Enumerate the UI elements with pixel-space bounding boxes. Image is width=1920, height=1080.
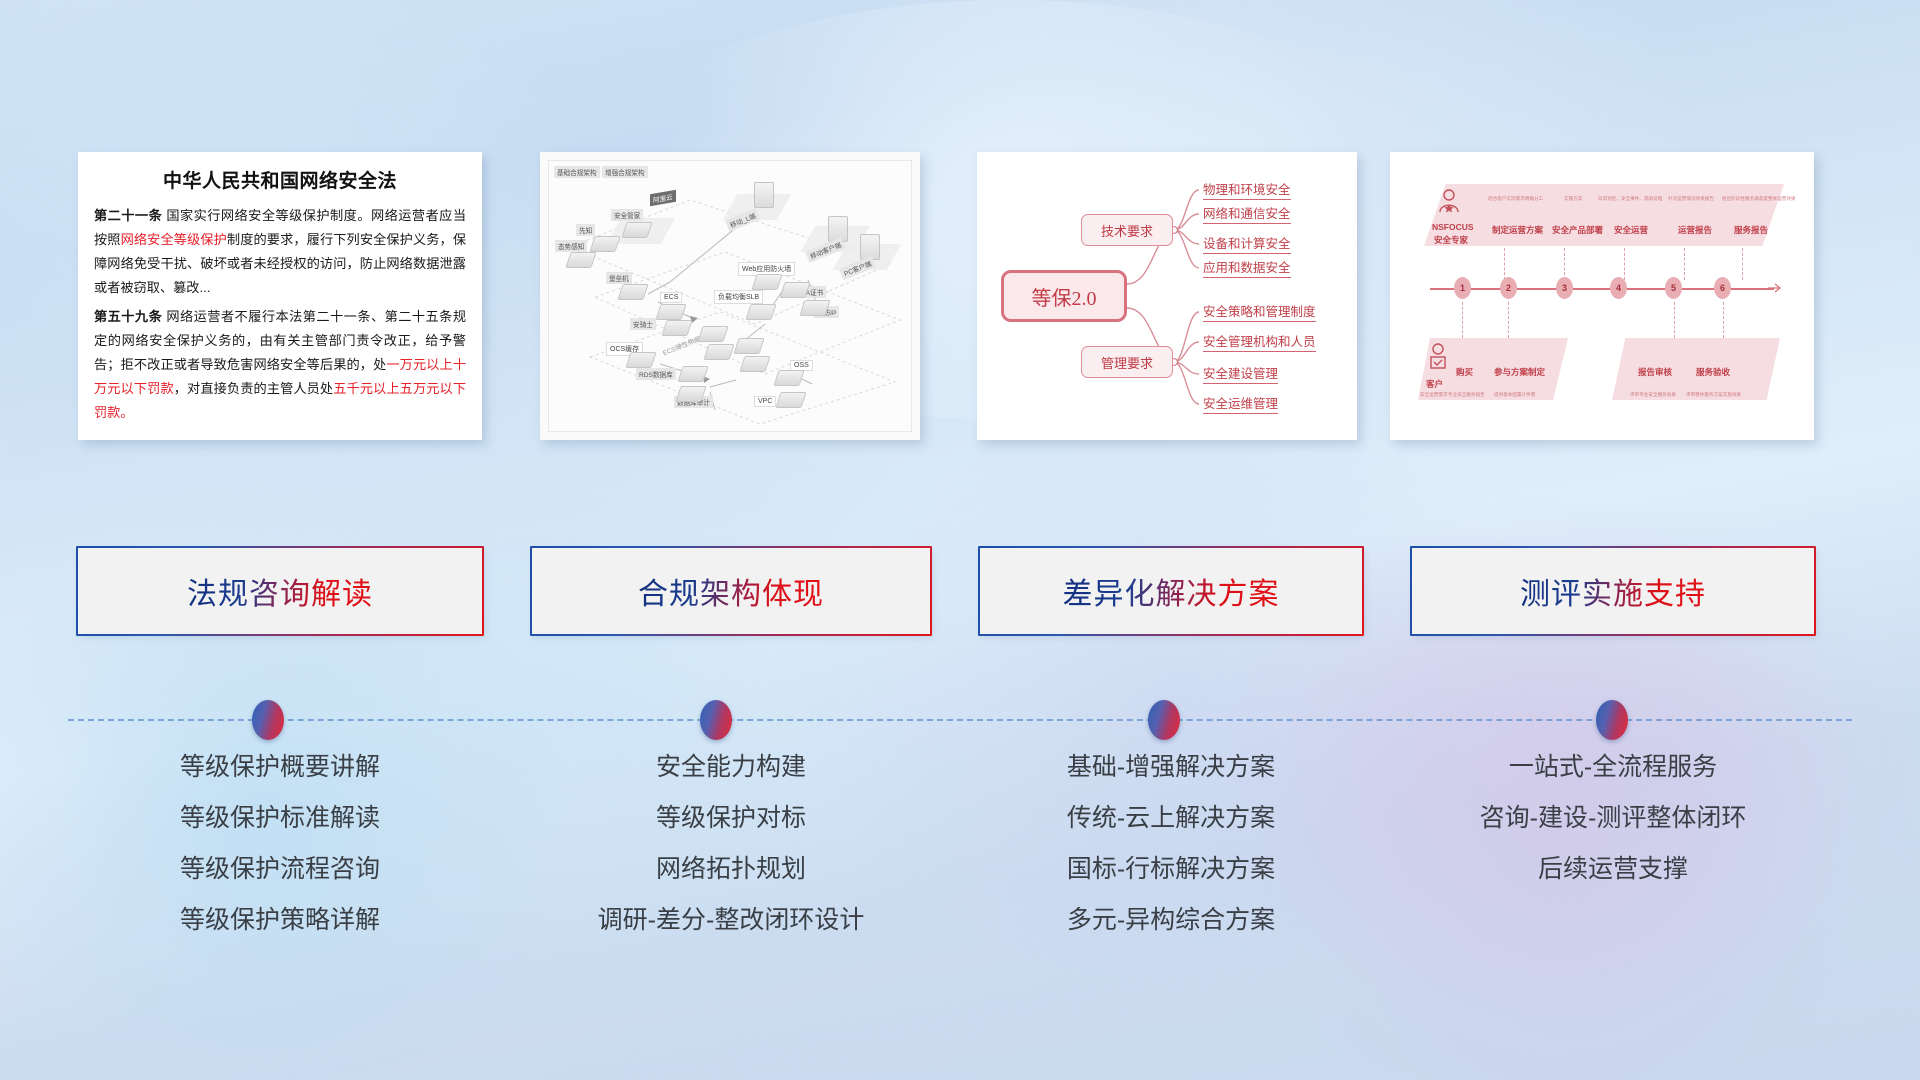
mindmap-branch-technical: 技术要求 — [1081, 214, 1173, 246]
list-item: 等级保护对标 — [532, 793, 930, 844]
law-body: 中华人民共和国网络安全法 第二十一条 国家实行网络安全等级保护制度。网络运营者应… — [78, 152, 482, 440]
law-p1-s1-highlight: 网络安全等级保护 — [121, 232, 227, 247]
heading-label-0: 法规咨询解读 — [187, 569, 373, 613]
timeline-node-3[interactable]: 3 — [1556, 277, 1573, 299]
heading-box-assessment-support[interactable]: 测评实施支持 — [1412, 548, 1814, 634]
list-item: 国标-行标解决方案 — [980, 844, 1362, 895]
mindmap-leaf-mgmt-3: 安全建设管理 — [1203, 363, 1278, 384]
detail-column-4: 一站式-全流程服务 咨询-建设-测评整体闭环 后续运营支撑 — [1412, 742, 1814, 895]
customer-step-4-sub: 评审整体服务方案实施效果 — [1686, 392, 1741, 398]
heading-box-regulation-consulting[interactable]: 法规咨询解读 — [78, 548, 482, 634]
expert-step-1-title: 制定运营方案 — [1492, 224, 1543, 236]
heading-label-1: 合规架构体现 — [638, 569, 824, 613]
detail-column-2: 安全能力构建 等级保护对标 网络拓扑规划 调研-差分-整改闭环设计 — [532, 742, 930, 946]
card-nsfocus-process[interactable]: NSFOCUS 安全专家 结合客户实际需求明确分工 制定运营方案 实施方案 安全… — [1390, 152, 1814, 440]
nsfocus-brand: NSFOCUS — [1432, 222, 1474, 232]
nsfocus-canvas: NSFOCUS 安全专家 结合客户实际需求明确分工 制定运营方案 实施方案 安全… — [1390, 152, 1814, 440]
list-item: 基础-增强解决方案 — [980, 742, 1362, 793]
heading-label-3: 测评实施支持 — [1520, 569, 1706, 613]
card-law-document[interactable]: 中华人民共和国网络安全法 第二十一条 国家实行网络安全等级保护制度。网络运营者应… — [78, 152, 482, 440]
nsfocus-expert-banner — [1424, 184, 1784, 246]
law-paragraph-1: 第二十一条 国家实行网络安全等级保护制度。网络运营者应当按照网络安全等级保护制度… — [94, 204, 466, 300]
timeline-node-2[interactable]: 2 — [1500, 277, 1517, 299]
customer-label: 客户 — [1426, 378, 1443, 390]
law-article-2: 第五十九条 — [94, 309, 162, 324]
law-p2-s2: ，对直接负责的主管人员处 — [174, 381, 333, 396]
list-item: 安全能力构建 — [532, 742, 930, 793]
arch-tab-basic[interactable]: 基础合规架构 — [554, 166, 600, 178]
timeline-dashed-rule — [68, 719, 1852, 721]
heading-box-compliance-architecture[interactable]: 合规架构体现 — [532, 548, 930, 634]
customer-step-1-sub: 专业安全服务报告 — [1448, 392, 1485, 398]
detail-columns: 等级保护概要讲解 等级保护标准解读 等级保护流程咨询 等级保护策略详解 安全能力… — [0, 742, 1920, 1042]
customer-step-2-title: 参与方案制定 — [1494, 366, 1545, 378]
timeline-arrow-icon — [1768, 281, 1784, 295]
list-item: 等级保护流程咨询 — [78, 844, 482, 895]
expert-step-4-title: 运营报告 — [1678, 224, 1712, 236]
mindmap-leaf-mgmt-1: 安全策略和管理制度 — [1203, 301, 1316, 322]
mindmap-leaf-tech-2: 网络和通信安全 — [1203, 203, 1291, 224]
list-item: 等级保护概要讲解 — [78, 742, 482, 793]
arch-node-shishiganzhi: 态势感知 — [555, 240, 587, 252]
customer-person-icon — [1426, 342, 1450, 372]
expert-step-3-title: 安全运营 — [1614, 224, 1648, 236]
timeline-marker-3[interactable] — [1148, 700, 1180, 740]
expert-step-3-sub: 日常巡检、安全事件、漏洞处理 — [1598, 196, 1662, 202]
arch-node-vpc: VPC — [754, 396, 776, 407]
detail-column-3: 基础-增强解决方案 传统-云上解决方案 国标-行标解决方案 多元-异构综合方案 — [980, 742, 1362, 946]
list-item: 传统-云上解决方案 — [980, 793, 1362, 844]
arch-node-anqishi: 安骑士 — [630, 318, 656, 330]
expert-person-icon — [1436, 188, 1462, 218]
law-paragraph-2: 第五十九条 网络运营者不履行本法第二十一条、第二十五条规定的网络安全保护义务的，… — [94, 305, 466, 425]
list-item: 后续运营支撑 — [1412, 844, 1814, 895]
arch-node-ecs: ECS — [660, 292, 682, 303]
list-item: 咨询-建设-测评整体闭环 — [1412, 793, 1814, 844]
expert-step-2-sub: 实施方案 — [1564, 196, 1582, 202]
law-title: 中华人民共和国网络安全法 — [94, 166, 466, 193]
timeline-marker-4[interactable] — [1596, 700, 1628, 740]
mindmap-leaf-tech-1: 物理和环境安全 — [1203, 179, 1291, 200]
arch-node-anquanguanjia: 安全管家 — [611, 209, 643, 221]
customer-sub: 安全运营需求 — [1420, 392, 1448, 398]
mindmap-leaf-tech-4: 应用和数据安全 — [1203, 257, 1291, 278]
timeline-node-4[interactable]: 4 — [1610, 277, 1627, 299]
arch-node-rds: RDS数据库 — [636, 368, 676, 380]
list-item: 等级保护策略详解 — [78, 895, 482, 946]
process-timeline — [0, 700, 1920, 740]
card-mindmap[interactable]: 等保2.0 技术要求 物理和环境安全 网络和通信安全 设备和计算安全 应用和数据… — [977, 152, 1357, 440]
heading-label-2: 差异化解决方案 — [1063, 569, 1280, 613]
heading-row: 法规咨询解读 合规架构体现 差异化解决方案 测评实施支持 — [0, 548, 1920, 648]
mindmap-leaf-tech-3: 设备和计算安全 — [1203, 233, 1291, 254]
list-item: 等级保护标准解读 — [78, 793, 482, 844]
mindmap-leaf-mgmt-4: 安全运维管理 — [1203, 393, 1278, 414]
expert-step-5-sub: 给出阶段性服务满意度整体运营效果 — [1722, 196, 1796, 202]
list-item: 一站式-全流程服务 — [1412, 742, 1814, 793]
timeline-marker-1[interactable] — [252, 700, 284, 740]
law-article-1: 第二十一条 — [94, 208, 162, 223]
timeline-node-6[interactable]: 6 — [1714, 277, 1731, 299]
timeline-node-1[interactable]: 1 — [1454, 277, 1471, 299]
card-architecture-diagram[interactable]: 基础合规架构 增强合规架构 阿里云 安全管家 先知 态势感知 堡垒机 ECS 安… — [540, 152, 920, 440]
arch-node-slb: 负载均衡SLB — [714, 290, 763, 304]
mindmap-branch-management: 管理要求 — [1081, 346, 1173, 378]
heading-box-differentiated-solution[interactable]: 差异化解决方案 — [980, 548, 1362, 634]
arch-tab-enhanced[interactable]: 增强合规架构 — [602, 166, 648, 178]
expert-step-1-sub: 结合客户实际需求明确分工 — [1488, 196, 1543, 202]
list-item: 调研-差分-整改闭环设计 — [532, 895, 930, 946]
arch-node-baoleiji: 堡垒机 — [606, 272, 632, 284]
mindmap-leaf-mgmt-2: 安全管理机构和人员 — [1203, 331, 1316, 352]
mindmap-canvas: 等保2.0 技术要求 物理和环境安全 网络和通信安全 设备和计算安全 应用和数据… — [977, 152, 1357, 440]
thumbnail-cards-row: 中华人民共和国网络安全法 第二十一条 国家实行网络安全等级保护制度。网络运营者应… — [0, 152, 1920, 452]
detail-column-1: 等级保护概要讲解 等级保护标准解读 等级保护流程咨询 等级保护策略详解 — [78, 742, 482, 946]
expert-step-4-sub: 针对运营情况效果报告 — [1668, 196, 1714, 202]
nsfocus-brand-sub: 安全专家 — [1434, 234, 1468, 246]
timeline-node-5[interactable]: 5 — [1665, 277, 1682, 299]
expert-step-2-title: 安全产品部署 — [1552, 224, 1603, 236]
expert-step-5-title: 服务报告 — [1734, 224, 1768, 236]
architecture-canvas: 基础合规架构 增强合规架构 阿里云 安全管家 先知 态势感知 堡垒机 ECS 安… — [540, 152, 920, 440]
timeline-marker-2[interactable] — [700, 700, 732, 740]
customer-step-3-title: 报告审核 — [1638, 366, 1672, 378]
customer-step-4-title: 服务验收 — [1696, 366, 1730, 378]
list-item: 多元-异构综合方案 — [980, 895, 1362, 946]
customer-step-3-sub: 评审专业安全服务效果 — [1630, 392, 1676, 398]
mindmap-root: 等保2.0 — [1001, 270, 1127, 322]
customer-step-2-sub: 提供基本配置计件需 — [1494, 392, 1535, 398]
list-item: 网络拓扑规划 — [532, 844, 930, 895]
arch-node-xianzhi: 先知 — [576, 224, 595, 236]
customer-step-1-title: 购买 — [1456, 366, 1473, 378]
